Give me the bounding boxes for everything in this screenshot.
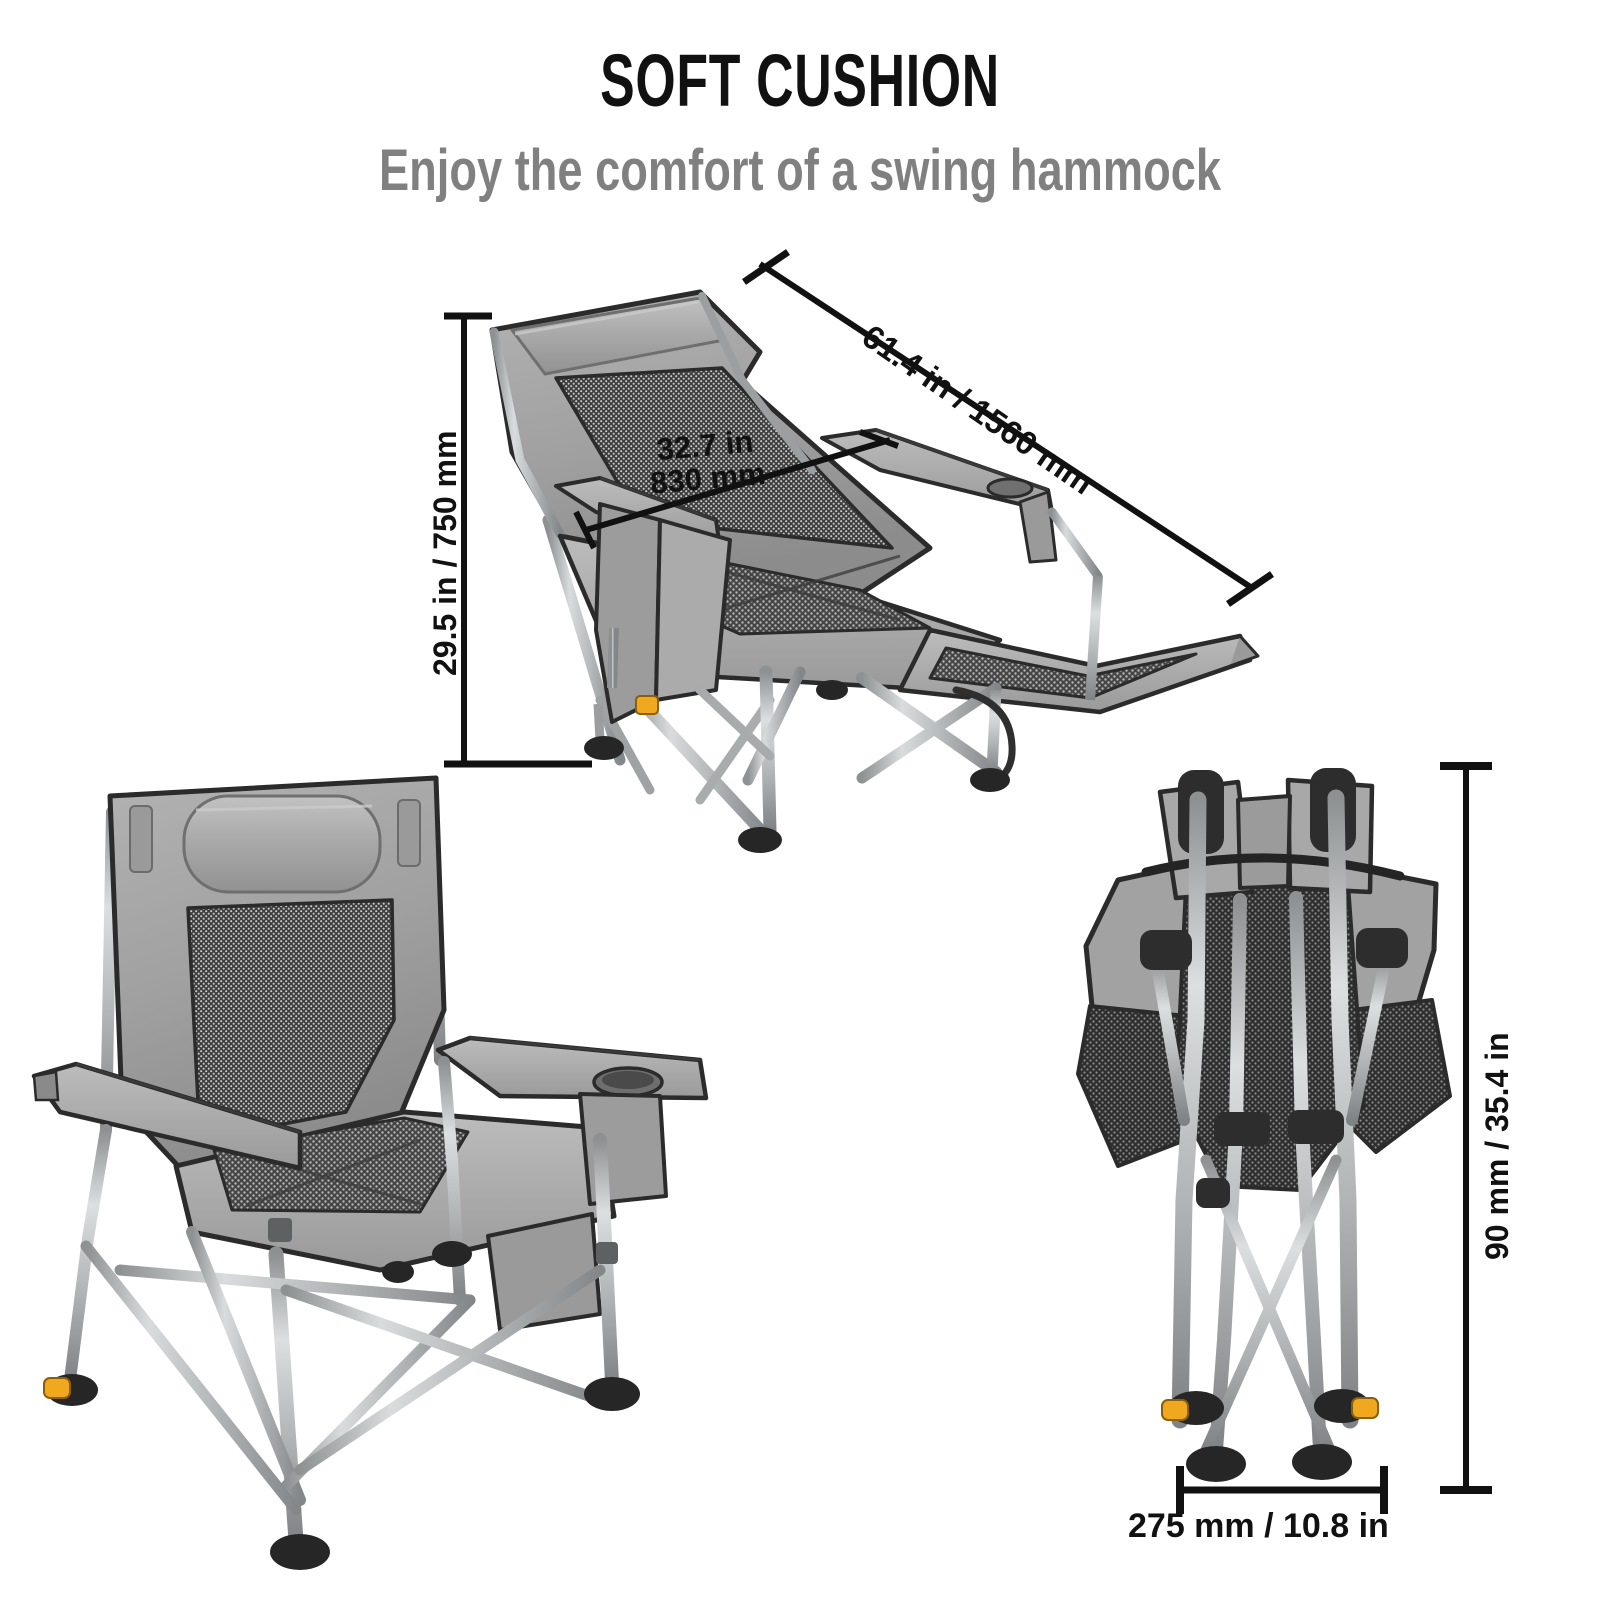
dimension-label-seat-width: 32.7 in 830 mm — [646, 424, 767, 501]
upright-joint — [432, 1241, 472, 1267]
product-illustrations — [0, 0, 1600, 1600]
folded-feet — [1162, 1389, 1378, 1482]
upright-chair-illustration — [34, 778, 706, 1570]
upright-armrest-pocket — [580, 1094, 666, 1204]
yellow-lock-tab-right — [1352, 1398, 1378, 1418]
orange-lock-tab — [636, 696, 658, 714]
folded-chair-illustration — [1078, 768, 1450, 1482]
reclined-side-pocket — [596, 504, 730, 722]
dimension-label-folded-width: 275 mm / 10.8 in — [1128, 1508, 1389, 1545]
dimension-label-height: 29.5 in / 750 mm — [428, 431, 463, 676]
upright-feet — [44, 1374, 640, 1570]
upright-headrest-pillow — [184, 796, 380, 892]
yellow-lock-tab-left — [1162, 1400, 1188, 1420]
upright-strap-left — [130, 806, 152, 872]
yellow-lock-knob — [44, 1378, 70, 1398]
upright-strap-right — [398, 800, 420, 866]
cup-holder-icon — [988, 479, 1032, 497]
infographic-canvas: SOFT CUSHION Enjoy the comfort of a swin… — [0, 0, 1600, 1600]
dimension-label-folded-height: 90 mm / 35.4 in — [1480, 1032, 1515, 1260]
reclined-chair-illustration — [492, 292, 1258, 853]
folded-pad-center — [1238, 796, 1290, 888]
